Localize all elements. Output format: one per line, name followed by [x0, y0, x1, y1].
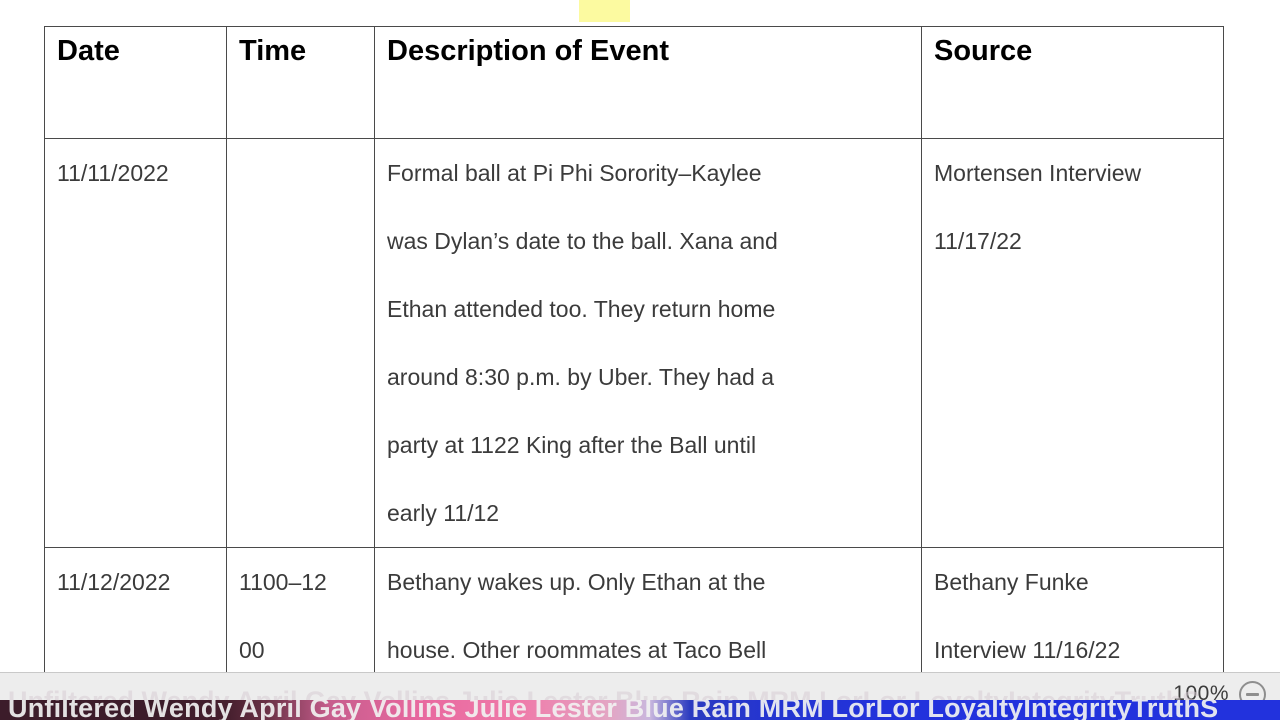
description-line: Ethan attended too. They return home — [387, 275, 909, 343]
text-highlight-marker — [579, 0, 630, 22]
description-line: was Dylan’s date to the ball. Xana and — [387, 207, 909, 275]
source-value-group: Mortensen Interview 11/17/22 — [934, 139, 1211, 275]
description-line: around 8:30 p.m. by Uber. They had a — [387, 343, 909, 411]
description-line: house. Other roommates at Taco Bell — [387, 616, 909, 672]
source-line: Mortensen Interview — [934, 139, 1211, 207]
description-line: Formal ball at Pi Phi Sorority–Kaylee — [387, 139, 909, 207]
description-line: party at 1122 King after the Ball until — [387, 411, 909, 479]
source-line: Bethany Funke — [934, 548, 1211, 616]
time-value-group: 1100–12 00 — [239, 548, 362, 672]
time-line: 1100–12 — [239, 548, 362, 616]
table-header-row: Date Time Description of Event Source — [45, 27, 1224, 139]
banner-text: Unfiltered Wendy April Gay Vollins Julie… — [8, 700, 1280, 720]
cell-description: Formal ball at Pi Phi Sorority–Kaylee wa… — [375, 139, 922, 548]
cell-time: 1100–12 00 — [227, 548, 375, 673]
time-line: 00 — [239, 616, 362, 672]
date-value: 11/12/2022 — [57, 548, 214, 616]
banner-strip: Unfiltered Wendy April Gay Vollins Julie… — [0, 700, 1280, 720]
column-header-date: Date — [45, 27, 227, 139]
description-value-group: Bethany wakes up. Only Ethan at the hous… — [387, 548, 909, 672]
cell-time — [227, 139, 375, 548]
cell-date: 11/11/2022 — [45, 139, 227, 548]
cell-source: Bethany Funke Interview 11/16/22 — [922, 548, 1224, 673]
column-header-source: Source — [922, 27, 1224, 139]
description-value-group: Formal ball at Pi Phi Sorority–Kaylee wa… — [387, 139, 909, 547]
table-row: 11/11/2022 Formal ball at Pi Phi Sororit… — [45, 139, 1224, 548]
cell-description: Bethany wakes up. Only Ethan at the hous… — [375, 548, 922, 673]
date-value-group: 11/12/2022 — [57, 548, 214, 616]
column-header-time: Time — [227, 27, 375, 139]
cell-source: Mortensen Interview 11/17/22 — [922, 139, 1224, 548]
table-row: 11/12/2022 1100–12 00 Bethany wakes up. … — [45, 548, 1224, 673]
description-line: early 11/12 — [387, 479, 909, 547]
date-value-group: 11/11/2022 — [57, 139, 214, 207]
source-value-group: Bethany Funke Interview 11/16/22 — [934, 548, 1211, 672]
document-viewer: Date Time Description of Event Source 11… — [0, 0, 1280, 720]
date-value: 11/11/2022 — [57, 139, 214, 207]
source-line: Interview 11/16/22 — [934, 616, 1211, 672]
table-body: 11/11/2022 Formal ball at Pi Phi Sororit… — [45, 139, 1224, 673]
source-line: 11/17/22 — [934, 207, 1211, 275]
cell-date: 11/12/2022 — [45, 548, 227, 673]
document-page: Date Time Description of Event Source 11… — [0, 0, 1280, 672]
timeline-table: Date Time Description of Event Source 11… — [44, 26, 1224, 672]
description-line: Bethany wakes up. Only Ethan at the — [387, 548, 909, 616]
column-header-description: Description of Event — [375, 27, 922, 139]
